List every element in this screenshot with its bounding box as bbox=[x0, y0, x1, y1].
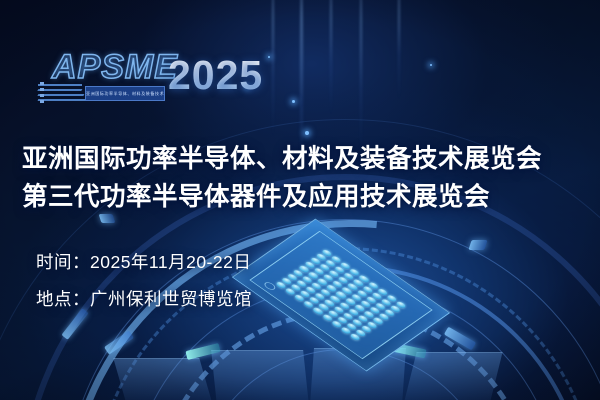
event-year: 2025 bbox=[168, 52, 263, 99]
headline-primary: 亚洲国际功率半导体、材料及装备技术展览会 bbox=[22, 138, 542, 175]
logo-subtitle-text: 亚洲国际功率半导体、材料及装备技术展览会 bbox=[86, 87, 164, 100]
logo-wordmark: APSME bbox=[52, 48, 178, 87]
bga-processor-chip bbox=[230, 196, 490, 356]
headline-secondary: 第三代功率半导体器件及应用技术展览会 bbox=[22, 176, 490, 213]
event-poster: APSME 亚洲国际功率半导体、材料及装备技术展览会 2025 亚洲国际功率半导… bbox=[0, 0, 600, 400]
apsme-logo: APSME 亚洲国际功率半导体、材料及装备技术展览会 bbox=[38, 48, 163, 106]
event-date: 时间：2025年11月20-22日 bbox=[36, 249, 251, 274]
logo-subtitle-bar: 亚洲国际功率半导体、材料及装备技术展览会 bbox=[85, 86, 165, 101]
event-venue: 地点：广州保利世贸博览馆 bbox=[36, 286, 252, 311]
chip-pad-grid bbox=[275, 249, 407, 341]
